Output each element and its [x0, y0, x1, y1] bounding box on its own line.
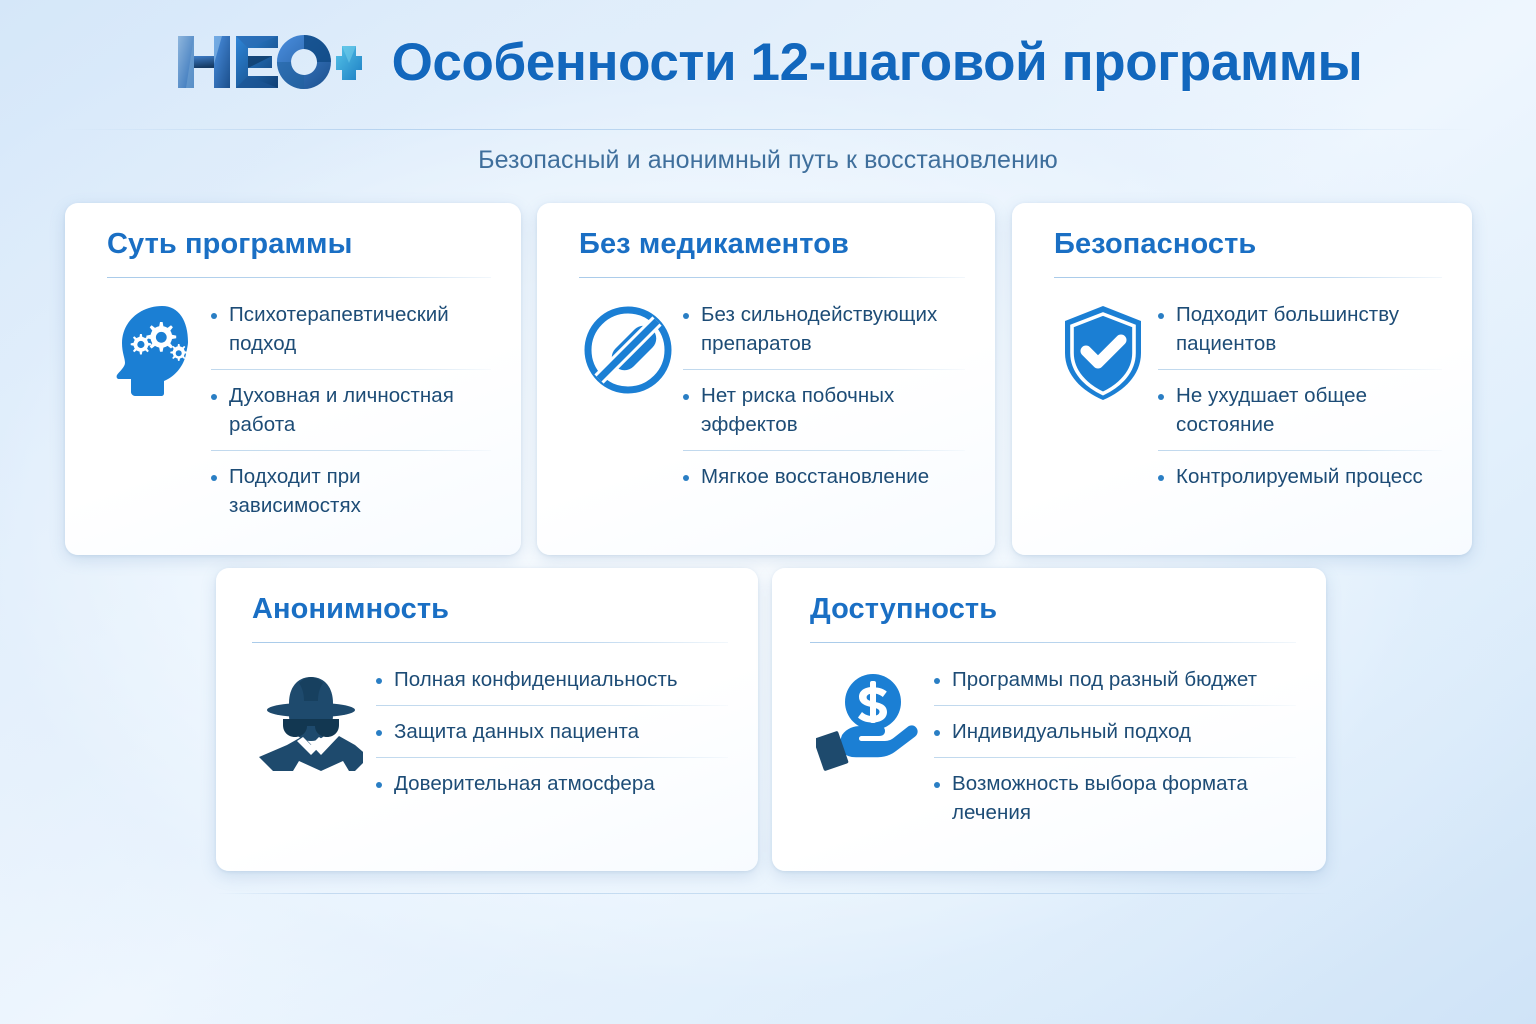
card-icon-slot: [810, 665, 928, 773]
bullet-dot-icon: [211, 313, 217, 319]
bullet-text: Духовная и личностная работа: [229, 381, 491, 439]
card-bullet-list: Подходит большинству пациентов Не ухудша…: [1152, 300, 1442, 492]
bullet-dot-icon: [1158, 475, 1164, 481]
bullet-text: Возможность выбора формата лечения: [952, 769, 1296, 827]
list-item: Без сильнодействующих препаратов: [683, 300, 965, 358]
list-item: Психотерапевтический подход: [211, 300, 491, 358]
bullet-dot-icon: [683, 313, 689, 319]
bullet-divider: [211, 450, 491, 451]
card-title-divider: [1054, 277, 1442, 278]
feature-card-no-medication[interactable]: Без медикаментов Без сильнодействующих п: [537, 203, 995, 555]
list-item: Полная конфиденциальность: [376, 665, 728, 694]
page-subtitle: Безопасный и анонимный путь к восстановл…: [0, 146, 1536, 175]
neo-plus-logo-icon: [174, 30, 362, 94]
footer-divider: [216, 893, 1331, 894]
bullet-divider: [934, 757, 1296, 758]
bullet-text: Доверительная атмосфера: [394, 769, 655, 798]
feature-card-essence[interactable]: Суть программы: [65, 203, 521, 555]
card-title-divider: [579, 277, 965, 278]
bullet-text: Без сильнодействующих препаратов: [701, 300, 965, 358]
page-title: Особенности 12-шаговой программы: [392, 36, 1363, 89]
list-item: Духовная и личностная работа: [211, 381, 491, 439]
list-item: Защита данных пациента: [376, 717, 728, 746]
bullet-divider: [683, 450, 965, 451]
bullet-dot-icon: [376, 730, 382, 736]
list-item: Подходит большинству пациентов: [1158, 300, 1442, 358]
list-item: Возможность выбора формата лечения: [934, 769, 1296, 827]
bullet-divider: [376, 705, 728, 706]
bullet-text: Контролируемый процесс: [1176, 462, 1423, 491]
card-icon-slot: [252, 665, 370, 779]
bullet-divider: [934, 705, 1296, 706]
bullet-text: Защита данных пациента: [394, 717, 639, 746]
bullet-dot-icon: [683, 475, 689, 481]
card-title-divider: [252, 642, 728, 643]
list-item: Доверительная атмосфера: [376, 769, 728, 798]
card-title: Доступность: [810, 594, 1296, 626]
list-item: Контролируемый процесс: [1158, 462, 1442, 491]
bullet-dot-icon: [934, 678, 940, 684]
bullet-dot-icon: [934, 782, 940, 788]
feature-card-safety[interactable]: Безопасность Подходит большинству пациен…: [1012, 203, 1472, 555]
bullet-divider: [1158, 369, 1442, 370]
card-bullet-list: Программы под разный бюджет Индивидуальн…: [928, 665, 1296, 827]
no-pills-icon: [582, 304, 674, 396]
bullet-text: Не ухудшает общее состояние: [1176, 381, 1442, 439]
bullet-divider: [211, 369, 491, 370]
card-bullet-list: Без сильнодействующих препаратов Нет рис…: [677, 300, 965, 492]
list-item: Нет риска побочных эффектов: [683, 381, 965, 439]
bullet-divider: [376, 757, 728, 758]
feature-card-affordability[interactable]: Доступность Программы под разный бюджет: [772, 568, 1326, 871]
bullet-text: Подходит большинству пациентов: [1176, 300, 1442, 358]
bullet-dot-icon: [1158, 313, 1164, 319]
bullet-text: Мягкое восстановление: [701, 462, 929, 491]
card-bullet-list: Полная конфиденциальность Защита данных …: [370, 665, 728, 798]
list-item: Индивидуальный подход: [934, 717, 1296, 746]
card-title: Без медикаментов: [579, 229, 965, 261]
header-divider: [62, 129, 1474, 130]
card-icon-slot: [107, 300, 205, 398]
bullet-dot-icon: [211, 394, 217, 400]
shield-check-icon: [1059, 304, 1147, 402]
card-icon-slot: [579, 300, 677, 396]
bullet-text: Подходит при зависимостях: [229, 462, 491, 520]
card-icon-slot: [1054, 300, 1152, 402]
card-title: Суть программы: [107, 229, 491, 261]
list-item: Подходит при зависимостях: [211, 462, 491, 520]
bullet-text: Нет риска побочных эффектов: [701, 381, 965, 439]
infographic-root: Особенности 12-шаговой программы Безопас…: [0, 0, 1536, 1024]
card-bullet-list: Психотерапевтический подход Духовная и л…: [205, 300, 491, 521]
bullet-text: Индивидуальный подход: [952, 717, 1191, 746]
bullet-dot-icon: [211, 475, 217, 481]
list-item: Мягкое восстановление: [683, 462, 965, 491]
card-title-divider: [810, 642, 1296, 643]
bullet-dot-icon: [683, 394, 689, 400]
bullet-dot-icon: [934, 730, 940, 736]
header: Особенности 12-шаговой программы: [0, 0, 1536, 130]
bullet-dot-icon: [376, 782, 382, 788]
bullet-dot-icon: [1158, 394, 1164, 400]
card-title: Анонимность: [252, 594, 728, 626]
bullet-text: Психотерапевтический подход: [229, 300, 491, 358]
bullet-divider: [1158, 450, 1442, 451]
bullet-divider: [683, 369, 965, 370]
list-item: Не ухудшает общее состояние: [1158, 381, 1442, 439]
hand-with-coin-icon: [816, 669, 922, 773]
bullet-dot-icon: [376, 678, 382, 684]
bullet-text: Полная конфиденциальность: [394, 665, 678, 694]
feature-card-anonymity[interactable]: Анонимность: [216, 568, 758, 871]
card-title: Безопасность: [1054, 229, 1442, 261]
incognito-person-icon: [259, 669, 363, 779]
list-item: Программы под разный бюджет: [934, 665, 1296, 694]
card-title-divider: [107, 277, 491, 278]
head-with-gears-icon: [113, 304, 199, 398]
bullet-text: Программы под разный бюджет: [952, 665, 1257, 694]
